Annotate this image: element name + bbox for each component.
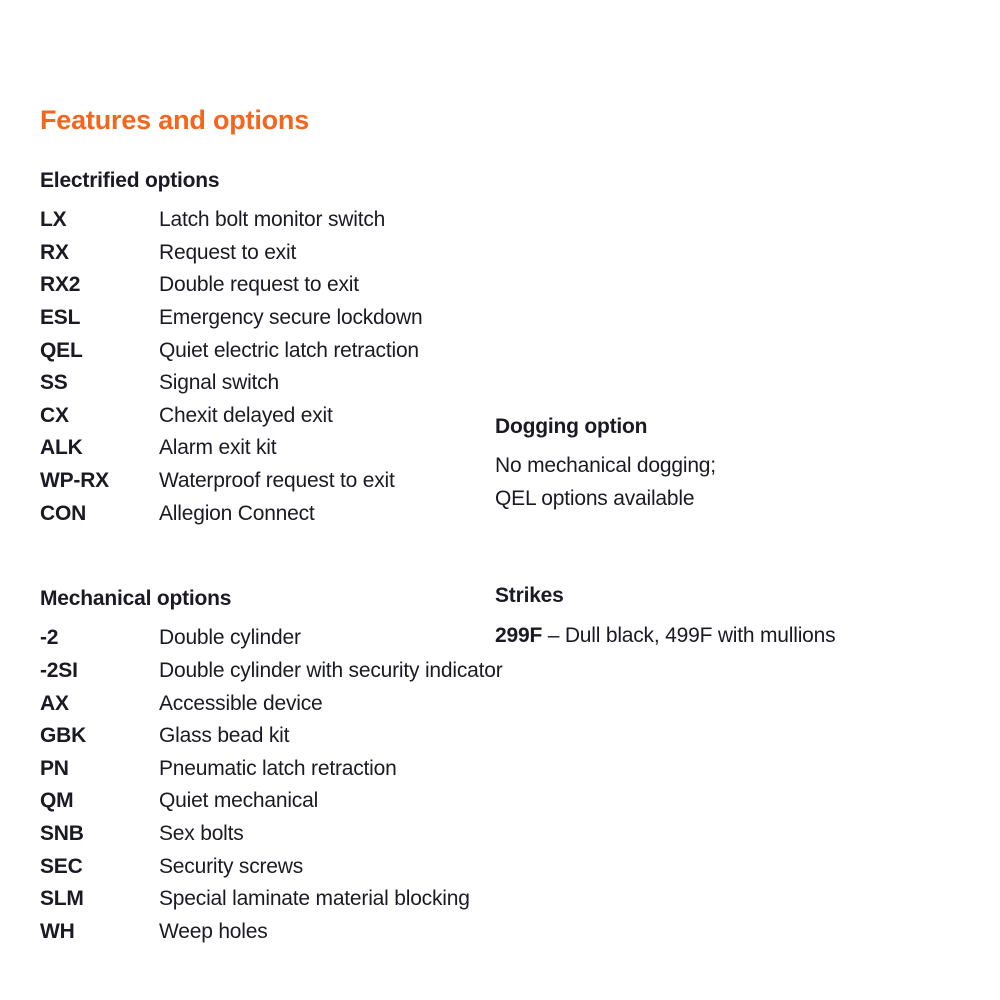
option-code: ALK: [40, 432, 159, 465]
option-row: CONAllegion Connect: [40, 498, 490, 531]
option-row: SNBSex bolts: [40, 818, 490, 851]
option-description: Alarm exit kit: [159, 432, 276, 465]
electrified-options-list: LXLatch bolt monitor switchRXRequest to …: [40, 204, 490, 530]
option-row: ALKAlarm exit kit: [40, 432, 490, 465]
option-code: PN: [40, 753, 159, 786]
strike-description: – Dull black, 499F with mullions: [542, 624, 835, 647]
option-code: SS: [40, 367, 159, 400]
option-description: Glass bead kit: [159, 720, 289, 753]
option-row: QELQuiet electric latch retraction: [40, 335, 490, 368]
option-row: QMQuiet mechanical: [40, 785, 490, 818]
option-code: WH: [40, 916, 159, 949]
option-code: SLM: [40, 883, 159, 916]
option-description: Quiet electric latch retraction: [159, 335, 419, 368]
option-row: WHWeep holes: [40, 916, 490, 949]
option-description: Latch bolt monitor switch: [159, 204, 385, 237]
option-row: SSSignal switch: [40, 367, 490, 400]
document-page: Features and options Electrified options…: [0, 0, 1000, 1000]
option-description: Chexit delayed exit: [159, 400, 333, 433]
right-column: Dogging option No mechanical dogging;QEL…: [495, 414, 965, 652]
left-column: Electrified options LXLatch bolt monitor…: [40, 168, 490, 948]
option-code: SNB: [40, 818, 159, 851]
option-code: SEC: [40, 851, 159, 884]
option-code: LX: [40, 204, 159, 237]
option-row: AXAccessible device: [40, 688, 490, 721]
right-column-spacer: [495, 515, 965, 583]
option-row: RX2Double request to exit: [40, 269, 490, 302]
page-title: Features and options: [40, 104, 309, 136]
option-row: ESLEmergency secure lockdown: [40, 302, 490, 335]
dogging-lines: No mechanical dogging;QEL options availa…: [495, 450, 965, 515]
option-code: QEL: [40, 335, 159, 368]
option-description: Allegion Connect: [159, 498, 315, 531]
option-description: Request to exit: [159, 237, 296, 270]
section-heading-dogging: Dogging option: [495, 414, 965, 440]
option-row: -2SIDouble cylinder with security indica…: [40, 655, 490, 688]
option-description: Double cylinder with security indicator: [159, 655, 503, 688]
dogging-line: No mechanical dogging;: [495, 450, 965, 483]
option-description: Emergency secure lockdown: [159, 302, 422, 335]
option-row: PNPneumatic latch retraction: [40, 753, 490, 786]
option-row: GBKGlass bead kit: [40, 720, 490, 753]
section-heading-strikes: Strikes: [495, 583, 965, 609]
option-row: -2Double cylinder: [40, 622, 490, 655]
dogging-block: Dogging option No mechanical dogging;QEL…: [495, 414, 965, 515]
option-code: WP-RX: [40, 465, 159, 498]
option-description: Weep holes: [159, 916, 268, 949]
option-code: QM: [40, 785, 159, 818]
option-description: Quiet mechanical: [159, 785, 318, 818]
option-description: Security screws: [159, 851, 303, 884]
option-row: SECSecurity screws: [40, 851, 490, 884]
option-description: Double cylinder: [159, 622, 301, 655]
option-row: WP-RXWaterproof request to exit: [40, 465, 490, 498]
strikes-detail-line: 299F – Dull black, 499F with mullions: [495, 620, 965, 653]
option-description: Special laminate material blocking: [159, 883, 470, 916]
mechanical-options-list: -2Double cylinder-2SIDouble cylinder wit…: [40, 622, 490, 948]
strikes-block: Strikes 299F – Dull black, 499F with mul…: [495, 583, 965, 652]
option-code: CON: [40, 498, 159, 531]
option-description: Waterproof request to exit: [159, 465, 395, 498]
option-row: SLMSpecial laminate material blocking: [40, 883, 490, 916]
option-code: AX: [40, 688, 159, 721]
option-code: RX2: [40, 269, 159, 302]
option-code: CX: [40, 400, 159, 433]
section-heading-mechanical: Mechanical options: [40, 586, 490, 612]
option-description: Double request to exit: [159, 269, 359, 302]
option-code: ESL: [40, 302, 159, 335]
option-code: -2SI: [40, 655, 159, 688]
option-description: Accessible device: [159, 688, 323, 721]
column-spacer: [40, 530, 490, 586]
strike-code: 299F: [495, 624, 542, 647]
option-description: Sex bolts: [159, 818, 244, 851]
option-code: RX: [40, 237, 159, 270]
option-description: Pneumatic latch retraction: [159, 753, 397, 786]
option-row: LXLatch bolt monitor switch: [40, 204, 490, 237]
section-heading-electrified: Electrified options: [40, 168, 490, 194]
option-row: CXChexit delayed exit: [40, 400, 490, 433]
option-description: Signal switch: [159, 367, 279, 400]
option-code: GBK: [40, 720, 159, 753]
dogging-line: QEL options available: [495, 483, 965, 516]
option-code: -2: [40, 622, 159, 655]
option-row: RXRequest to exit: [40, 237, 490, 270]
